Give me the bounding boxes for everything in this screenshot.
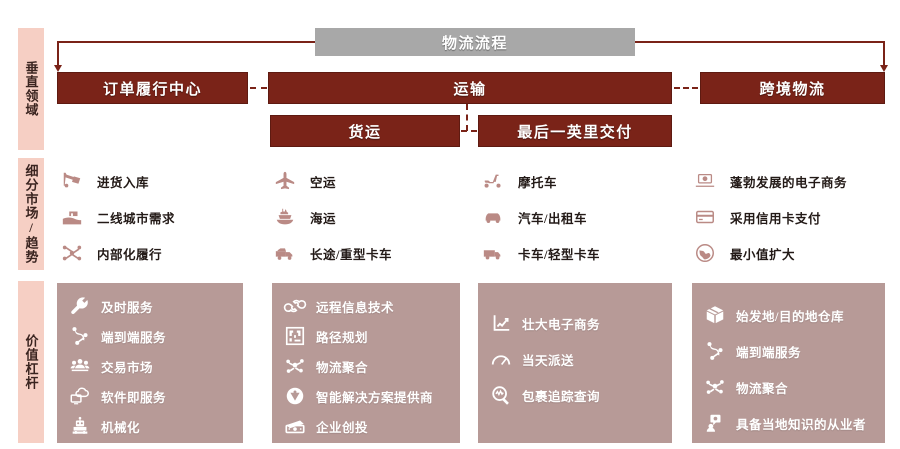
connector-left-vertical [57,41,59,68]
value-lever-item-label: 交易市场 [101,357,153,376]
value-lever-item-label: 壮大电子商务 [522,314,600,333]
globe-icon [690,240,720,266]
network-node-icon [57,240,87,266]
end-to-end-icon [702,339,728,363]
segment-item-label: 摩托车 [518,172,557,191]
vertical-box-transport[interactable]: 运输 [268,72,672,104]
value-lever-item-label: 包裹追踪查询 [522,386,600,405]
value-lever-item-label: 及时服务 [101,297,153,316]
value-lever-item: 智能解决方案提供商 [282,381,460,411]
connector-right-vertical [883,41,885,68]
segment-item: 最小值扩大 [690,235,900,271]
segment-item: 采用信用卡支付 [690,199,900,235]
value-lever-panel-1: 及时服务端到端服务交易市场软件即服务机械化 [57,283,243,443]
segment-item: 摩托车 [478,163,678,199]
value-lever-item: 壮大电子商务 [488,305,672,341]
segment-item-label: 长途/重型卡车 [310,244,392,263]
growth-chart-icon [488,311,514,335]
cloud-monitor-icon [67,384,93,408]
band-label-segment: 细分市场/趋势 [18,158,44,270]
value-lever-item: 及时服务 [67,291,243,321]
speedometer-icon [488,347,514,371]
value-lever-item: 远程信息技术 [282,291,460,321]
value-lever-item: 端到端服务 [702,333,885,369]
segment-item-label: 进货入库 [97,172,149,191]
vertical-box-freight[interactable]: 货运 [270,115,460,147]
segment-item: 汽车/出租车 [478,199,678,235]
segment-item: 蓬勃发展的电子商务 [690,163,900,199]
value-lever-item: 当天派送 [488,341,672,377]
value-lever-item-label: 始发地/目的地仓库 [736,306,844,325]
segment-item-label: 内部化履行 [97,244,162,263]
magnifier-track-icon [488,383,514,407]
segment-item: 内部化履行 [57,235,257,271]
wrench-icon [67,294,93,318]
value-lever-item-label: 企业创投 [316,417,368,436]
airplane-icon [270,168,300,194]
people-group-icon [67,354,93,378]
arrowhead-right-icon [880,65,888,72]
segment-item-label: 空运 [310,172,336,191]
dashed-connector-freight-lastmile [461,130,477,132]
value-lever-item-label: 具备当地知识的从业者 [736,414,866,433]
value-lever-panel-3: 壮大电子商务当天派送包裹追踪查询 [478,283,672,443]
molecule-icon [702,375,728,399]
robot-icon [67,414,93,438]
hand-truck-icon [57,168,87,194]
connector-right-horizontal [635,41,885,43]
segment-item: 长途/重型卡车 [270,235,470,271]
smart-gear-icon [282,384,308,408]
scooter-icon [478,168,508,194]
segment-item: 进货入库 [57,163,257,199]
dashed-connector-transport-down [466,104,468,131]
segment-item-label: 海运 [310,208,336,227]
segment-item: 二线城市需求 [57,199,257,235]
value-lever-item: 企业创投 [282,411,460,441]
farm-field-icon [57,204,87,230]
segment-item-label: 二线城市需求 [97,208,175,227]
value-lever-item-label: 端到端服务 [736,342,801,361]
cash-icon [282,414,308,438]
route-maze-icon [282,324,308,348]
value-lever-panel-2: 远程信息技术路径规划物流聚合智能解决方案提供商企业创投 [272,283,460,443]
segment-item-label: 蓬勃发展的电子商务 [730,172,847,191]
vertical-box-cross-border[interactable]: 跨境物流 [700,72,885,104]
connector-left-horizontal [57,41,315,43]
value-lever-item-label: 远程信息技术 [316,297,394,316]
vertical-box-last-mile[interactable]: 最后一英里交付 [478,115,672,147]
chain-link-icon [282,294,308,318]
dashed-connector-fulfillment-transport [250,87,267,89]
value-lever-item: 始发地/目的地仓库 [702,297,885,333]
molecule-icon [282,354,308,378]
band-label-vertical: 垂直领域 [18,28,44,150]
end-to-end-icon [67,324,93,348]
segment-column-2: 空运海运长途/重型卡车 [270,163,470,271]
value-lever-item-label: 物流聚合 [736,378,788,397]
value-lever-item: 交易市场 [67,351,243,381]
value-lever-item: 包裹追踪查询 [488,377,672,413]
value-lever-item: 具备当地知识的从业者 [702,405,885,441]
local-expert-icon [702,411,728,435]
value-lever-item-label: 物流聚合 [316,357,368,376]
value-lever-item: 端到端服务 [67,321,243,351]
value-lever-item-label: 软件即服务 [101,387,166,406]
vertical-box-fulfillment[interactable]: 订单履行中心 [57,72,248,104]
value-lever-item: 路径规划 [282,321,460,351]
diagram-canvas: 垂直领域 细分市场/趋势 价值杠杆 物流流程 订单履行中心 运输 跨境物流 货运… [0,0,900,449]
dashed-connector-transport-crossborder [674,87,698,89]
value-lever-item-label: 机械化 [101,417,140,436]
segment-item-label: 卡车/轻型卡车 [518,244,600,263]
heavy-truck-icon [270,240,300,266]
segment-column-4: 蓬勃发展的电子商务采用信用卡支付最小值扩大 [690,163,900,271]
segment-item: 空运 [270,163,470,199]
segment-item: 卡车/轻型卡车 [478,235,678,271]
arrowhead-left-icon [54,65,62,72]
segment-item-label: 最小值扩大 [730,244,795,263]
value-lever-item-label: 路径规划 [316,327,368,346]
parcel-box-icon [702,303,728,327]
credit-card-icon [690,204,720,230]
segment-column-1: 进货入库二线城市需求内部化履行 [57,163,257,271]
car-icon [478,204,508,230]
segment-column-3: 摩托车汽车/出租车卡车/轻型卡车 [478,163,678,271]
value-lever-item: 物流聚合 [702,369,885,405]
process-header-box: 物流流程 [315,28,635,56]
segment-item-label: 采用信用卡支付 [730,208,821,227]
value-lever-panel-4: 始发地/目的地仓库端到端服务物流聚合具备当地知识的从业者 [692,283,885,443]
value-lever-item: 软件即服务 [67,381,243,411]
ship-icon [270,204,300,230]
light-truck-icon [478,240,508,266]
band-label-value: 价值杠杆 [18,281,44,443]
segment-item-label: 汽车/出租车 [518,208,587,227]
segment-item: 海运 [270,199,470,235]
value-lever-item-label: 端到端服务 [101,327,166,346]
value-lever-item-label: 当天派送 [522,350,574,369]
value-lever-item: 机械化 [67,411,243,441]
value-lever-item-label: 智能解决方案提供商 [316,387,433,406]
value-lever-item: 物流聚合 [282,351,460,381]
laptop-globe-icon [690,168,720,194]
